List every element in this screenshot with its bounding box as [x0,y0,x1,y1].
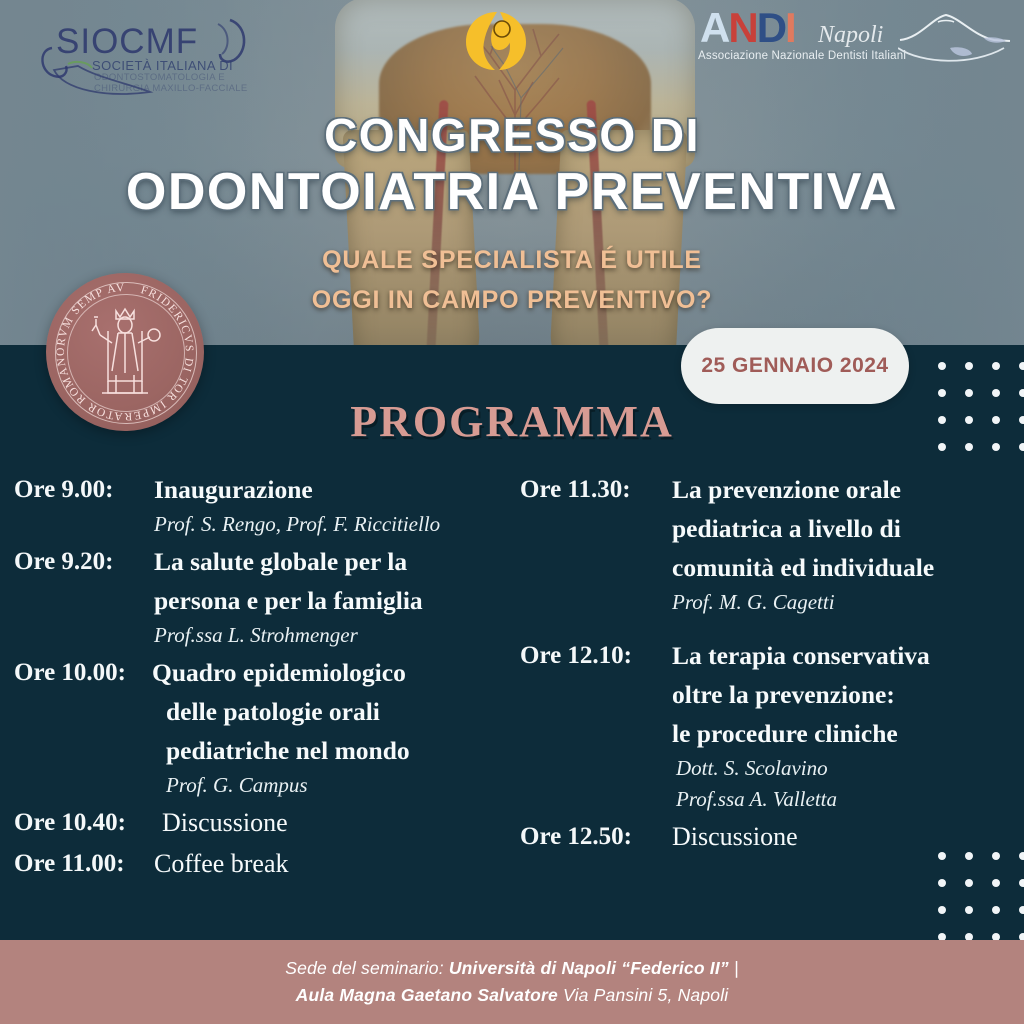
entry-time: Ore 10.40: [14,803,146,842]
schedule-entry: Ore 12.10: La terapia conservativa oltre… [520,636,1020,815]
andi-letter-i: I [785,4,795,51]
siocmf-line2: ODONTOSTOMATOLOGIA E [94,72,225,83]
schedule-columns: Ore 9.00: Inaugurazione Prof. S. Rengo, … [0,470,1024,910]
programma-heading: PROGRAMMA [0,396,1024,447]
siocmf-line3: CHIRURGIA MAXILLO-FACCIALE [94,83,248,94]
entry-title-line: le procedure cliniche [672,714,1020,753]
entry-body: La salute globale per la persona e per l… [142,542,524,651]
entry-title-line: La prevenzione orale [672,470,1020,509]
venue-colon: : [439,958,449,978]
schedule-entry: Ore 12.50: Discussione [520,817,1020,856]
entry-title: Coffee break [154,844,524,883]
entry-time: Ore 12.10: [520,636,658,675]
andi-letter-a: A [700,4,728,51]
andi-acronym: ANDI [700,6,795,50]
entry-title: Discussione [672,817,1020,856]
schedule-entry: Ore 9.00: Inaugurazione Prof. S. Rengo, … [14,470,524,540]
entry-body: Quadro epidemiologico delle patologie or… [150,653,524,801]
date-badge: 25 GENNAIO 2024 [681,328,909,404]
schedule-entry: Ore 11.30: La prevenzione orale pediatri… [520,470,1020,618]
entry-title: Inaugurazione [154,470,524,509]
entry-speaker: Dott. S. Scolavino [672,753,1020,784]
andi-letter-d: D [757,4,785,51]
venue-line-2: Aula Magna Gaetano Salvatore Via Pansini… [296,982,729,1009]
entry-speaker: Prof.ssa A. Valletta [672,784,1020,815]
entry-speaker: Prof.ssa L. Strohmenger [154,620,524,651]
entry-time: Ore 11.00: [14,844,146,883]
andi-napoli-logo: ANDI Napoli Associazione Nazionale Denti… [694,6,1014,74]
gold-circle-figure-icon [462,8,532,74]
schedule-column-right: Ore 11.30: La prevenzione orale pediatri… [520,470,1020,858]
siocmf-line1: SOCIETÀ ITALIANA DI [92,58,233,73]
title-line-1: CONGRESSO DI [0,108,1024,162]
entry-body: Inaugurazione Prof. S. Rengo, Prof. F. R… [142,470,524,540]
entry-title-line: oltre la prevenzione: [672,675,1020,714]
entry-time: Ore 10.00: [14,653,150,692]
venue-address: Via Pansini 5, Napoli [558,985,728,1005]
venue-footer: Sede del seminario: Università di Napoli… [0,940,1024,1024]
entry-body: La terapia conservativa oltre la prevenz… [658,636,1020,815]
schedule-column-left: Ore 9.00: Inaugurazione Prof. S. Rengo, … [14,470,524,885]
entry-body: La prevenzione orale pediatrica a livell… [658,470,1020,618]
venue-separator: | [729,958,739,978]
venue-name: Università di Napoli “Federico II” [449,958,729,978]
entry-time: Ore 9.00: [14,470,142,509]
entry-title-line: comunità ed individuale [672,548,1020,587]
entry-title-line: persona e per la famiglia [154,581,524,620]
entry-title-line: La salute globale per la [154,542,524,581]
venue-label: Sede del seminario [285,958,438,978]
entry-speaker: Prof. S. Rengo, Prof. F. Riccitiello [154,509,524,540]
schedule-entry: Ore 9.20: La salute globale per la perso… [14,542,524,651]
schedule-entry: Ore 11.00: Coffee break [14,844,524,883]
andi-letter-n: N [728,4,756,51]
entry-speaker: Prof. G. Campus [152,770,524,801]
entry-speaker: Prof. M. G. Cagetti [672,587,1020,618]
entry-title-line: La terapia conservativa [672,636,1020,675]
entry-time: Ore 12.50: [520,817,658,856]
center-gold-logo [462,8,532,74]
siocmf-acronym: SIOCMF [56,22,198,62]
entry-body: Discussione [146,803,524,842]
date-badge-text: 25 GENNAIO 2024 [701,354,888,378]
siocmf-logo: SIOCMF SOCIETÀ ITALIANA DI ODONTOSTOMATO… [34,14,254,100]
entry-time: Ore 11.30: [520,470,658,509]
schedule-entry: Ore 10.00: Quadro epidemiologico delle p… [14,653,524,801]
vesuvius-bay-icon [898,10,1014,70]
poster-title: CONGRESSO DI ODONTOIATRIA PREVENTIVA [0,108,1024,222]
venue-line-1: Sede del seminario: Università di Napoli… [285,955,738,982]
title-line-2: ODONTOIATRIA PREVENTIVA [0,162,1024,222]
entry-title-line: pediatrica a livello di [672,509,1020,548]
entry-title: Discussione [162,803,524,842]
entry-title-line: delle patologie orali [152,692,524,731]
entry-body: Discussione [658,817,1020,856]
poster-root: SIOCMF SOCIETÀ ITALIANA DI ODONTOSTOMATO… [0,0,1024,1024]
venue-hall: Aula Magna Gaetano Salvatore [296,985,558,1005]
entry-title-line: pediatriche nel mondo [152,731,524,770]
schedule-entry: Ore 10.40: Discussione [14,803,524,842]
entry-body: Coffee break [146,844,524,883]
andi-city: Napoli [818,22,883,49]
entry-time: Ore 9.20: [14,542,142,581]
entry-title-line: Quadro epidemiologico [152,653,524,692]
andi-subtitle: Associazione Nazionale Dentisti Italiani [698,50,906,62]
